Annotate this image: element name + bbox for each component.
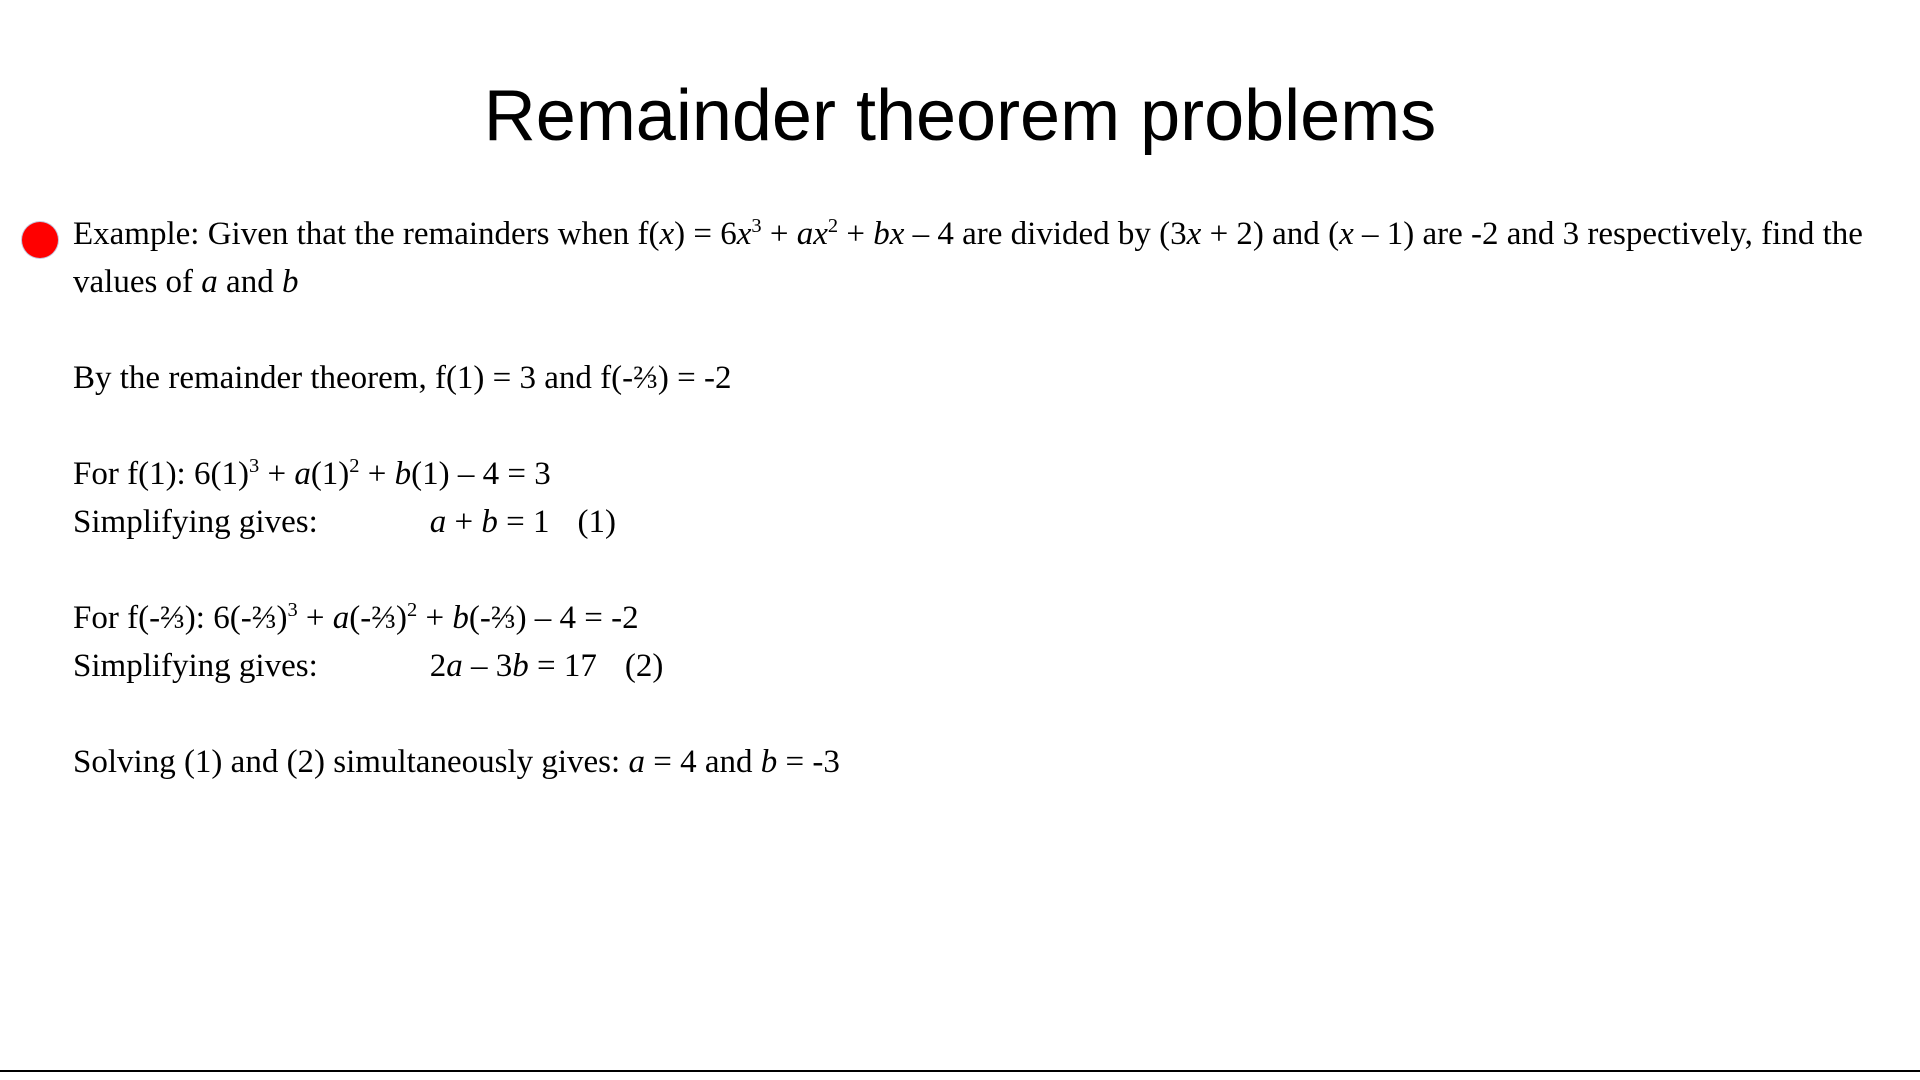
- case2-text-e: (-⅔) – 4 = -2: [469, 600, 639, 636]
- case1-text-d: +: [360, 456, 395, 492]
- example-text-a: Example: Given that the remainders when …: [73, 216, 659, 252]
- example-text-c: +: [762, 216, 797, 252]
- case2-sup-2: 2: [407, 599, 417, 621]
- case2-text-a: For f(-⅔): 6(-⅔): [73, 600, 287, 636]
- case1-simplify-label: Simplifying gives:: [73, 504, 318, 540]
- case2-var-a: a: [333, 600, 350, 636]
- example-sup-1: 3: [751, 215, 761, 237]
- case2-text-d: +: [417, 600, 452, 636]
- example-text-e: – 4 are divided by (3: [904, 216, 1186, 252]
- case-one-simplified: Simplifying gives:a + b = 1(1): [18, 498, 1878, 546]
- example-text-b: ) = 6: [674, 216, 737, 252]
- case1-text-c: (1): [311, 456, 349, 492]
- case1-equation-ref: (1): [578, 504, 616, 540]
- theorem-paragraph: By the remainder theorem, f(1) = 3 and f…: [18, 354, 1878, 402]
- case1-result-operator: +: [446, 504, 481, 540]
- case2-sup-1: 3: [287, 599, 297, 621]
- case2-text-b: +: [298, 600, 333, 636]
- example2-text-c: and: [218, 264, 282, 300]
- title-placeholder: Remainder theorem problems: [0, 78, 1920, 156]
- case2-text-c: (-⅔): [349, 600, 407, 636]
- example2-var-b: b: [282, 264, 299, 300]
- solution-var-b: b: [761, 744, 778, 780]
- case1-var-b: b: [395, 456, 412, 492]
- example-text-d: +: [838, 216, 873, 252]
- page-title: Remainder theorem problems: [0, 78, 1920, 156]
- case-two-simplified: Simplifying gives:2a – 3b = 17(2): [18, 642, 1878, 690]
- case2-equation-ref: (2): [625, 648, 663, 684]
- solution-prefix: Solving (1) and (2) simultaneously gives…: [73, 744, 628, 780]
- example-var-x3: x: [813, 216, 828, 252]
- example-var-x2: x: [737, 216, 752, 252]
- solution-suffix: = -3: [777, 744, 840, 780]
- example2-var-x: x: [1339, 216, 1354, 252]
- example-var-b1: b: [873, 216, 890, 252]
- case1-text-e: (1) – 4 = 3: [411, 456, 551, 492]
- case2-simplify-label: Simplifying gives:: [73, 648, 318, 684]
- spacer-2: [18, 402, 1878, 450]
- theorem-text: By the remainder theorem, f(1) = 3 and f…: [73, 360, 732, 396]
- case2-result-operator: – 3: [463, 648, 513, 684]
- case1-text-b: +: [259, 456, 294, 492]
- case1-text-a: For f(1): 6(1): [73, 456, 249, 492]
- example-var-x5: x: [1187, 216, 1202, 252]
- slide-bottom-rule: [0, 1070, 1920, 1072]
- spacer-1: [18, 306, 1878, 354]
- case1-sup-1: 3: [249, 455, 259, 477]
- case1-sup-2: 2: [349, 455, 359, 477]
- case-one-equation: For f(1): 6(1)3 + a(1)2 + b(1) – 4 = 3: [18, 450, 1878, 498]
- example2-var-a: a: [201, 264, 218, 300]
- case2-coef-a: 2: [430, 648, 447, 684]
- case1-result-rhs: = 1: [498, 504, 550, 540]
- case2-result-rhs: = 17: [529, 648, 597, 684]
- case2-result-var-b: b: [512, 648, 529, 684]
- spacer-3: [18, 546, 1878, 594]
- example-var-x4: x: [890, 216, 905, 252]
- solution-mid: = 4 and: [645, 744, 761, 780]
- spacer-4: [18, 690, 1878, 738]
- case2-result-var-a: a: [446, 648, 463, 684]
- content-placeholder: Example: Given that the remainders when …: [18, 210, 1878, 786]
- example-line-1: Example: Given that the remainders when …: [73, 216, 1320, 252]
- case1-result-var-b: b: [481, 504, 498, 540]
- example-var-a1: a: [797, 216, 814, 252]
- slide-canvas: Remainder theorem problems Example: Give…: [0, 0, 1920, 1080]
- case1-var-a: a: [294, 456, 311, 492]
- example-paragraph: Example: Given that the remainders when …: [18, 210, 1878, 306]
- case2-var-b: b: [452, 600, 469, 636]
- example-var-x1: x: [659, 216, 674, 252]
- case1-result-var-a: a: [430, 504, 447, 540]
- case-two-equation: For f(-⅔): 6(-⅔)3 + a(-⅔)2 + b(-⅔) – 4 =…: [18, 594, 1878, 642]
- solution-var-a: a: [628, 744, 645, 780]
- red-disc-bullet-icon: [22, 222, 58, 258]
- example-sup-2: 2: [828, 215, 838, 237]
- solution-paragraph: Solving (1) and (2) simultaneously gives…: [18, 738, 1878, 786]
- example2-text-a: (: [1328, 216, 1339, 252]
- example-text-f: + 2) and: [1201, 216, 1320, 252]
